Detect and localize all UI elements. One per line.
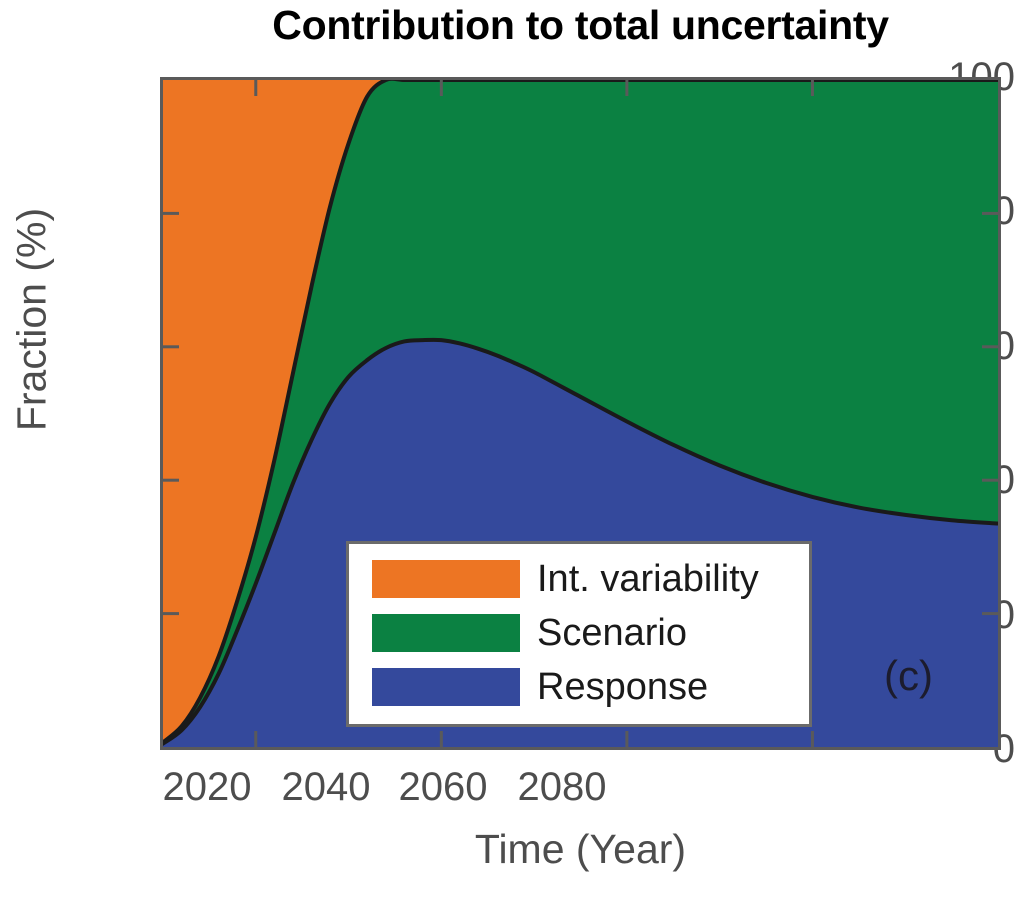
legend-label-response: Response <box>537 668 708 706</box>
legend-item-response[interactable]: Response <box>349 660 809 714</box>
xtick-label-2080: 2080 <box>482 767 642 807</box>
chart-legend: Int. variability Scenario Response <box>346 541 812 727</box>
legend-label-int-variability: Int. variability <box>537 560 759 598</box>
panel-label: (c) <box>884 652 933 700</box>
legend-item-int-variability[interactable]: Int. variability <box>349 552 809 606</box>
y-axis-label: Fraction (%) <box>9 140 56 500</box>
legend-item-scenario[interactable]: Scenario <box>349 606 809 660</box>
figure-panel-c: Contribution to total uncertainty 100 80… <box>0 0 1015 898</box>
legend-swatch-response <box>372 668 520 706</box>
x-axis-label: Time (Year) <box>160 826 1001 873</box>
chart-title: Contribution to total uncertainty <box>160 2 1001 49</box>
legend-label-scenario: Scenario <box>537 614 687 652</box>
legend-swatch-int-variability <box>372 560 520 598</box>
legend-swatch-scenario <box>372 614 520 652</box>
plot-area: (c) Int. variability Scenario Response <box>160 77 1001 750</box>
